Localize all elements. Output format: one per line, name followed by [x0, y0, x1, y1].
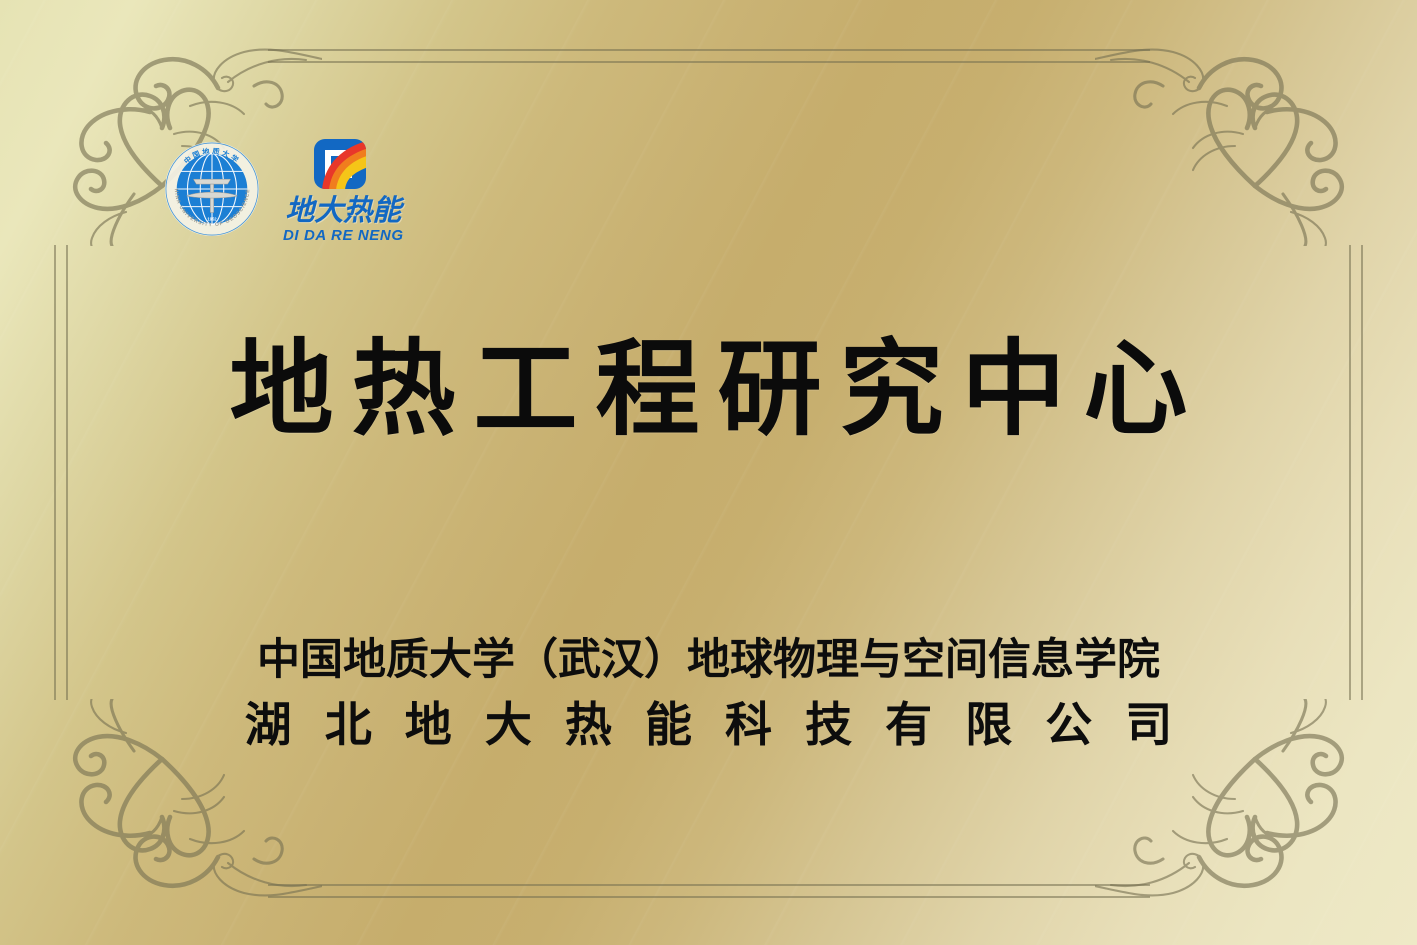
cug-seal-icon: 中国地质大学 CHINA UNIVERSITY OF GEOSCIENCES 1…	[163, 140, 261, 238]
svg-text:1952: 1952	[207, 216, 217, 221]
frame-line-left-outer	[54, 245, 56, 700]
organization-line: 中国地质大学（武汉）地球物理与空间信息学院	[0, 636, 1417, 686]
frame-line-left-inner	[66, 245, 68, 700]
page-title: 地热工程研究中心	[0, 332, 1417, 448]
company-name-cn: 地大热能	[285, 197, 401, 226]
frame-line-right-outer	[1349, 245, 1351, 700]
corner-ornament-top-right	[1095, 16, 1395, 246]
award-plaque: 中国地质大学 CHINA UNIVERSITY OF GEOSCIENCES 1…	[0, 0, 1417, 945]
frame-line-right-inner	[1361, 245, 1363, 700]
frame-line-bottom-inner	[268, 896, 1150, 898]
company-logo: 地大热能 DI DA RE NENG	[283, 138, 404, 243]
logo-row: 中国地质大学 CHINA UNIVERSITY OF GEOSCIENCES 1…	[163, 134, 404, 243]
didareneng-rainbow-icon	[312, 138, 374, 196]
frame-line-top-inner	[268, 61, 1150, 63]
company-line: 湖 北 地 大 热 能 科 技 有 限 公 司	[0, 698, 1417, 753]
company-name-pinyin: DI DA RE NENG	[283, 228, 404, 243]
frame-line-top-outer	[268, 49, 1150, 51]
frame-line-bottom-outer	[268, 884, 1150, 886]
subtitle-block: 中国地质大学（武汉）地球物理与空间信息学院 湖 北 地 大 热 能 科 技 有 …	[0, 636, 1417, 752]
